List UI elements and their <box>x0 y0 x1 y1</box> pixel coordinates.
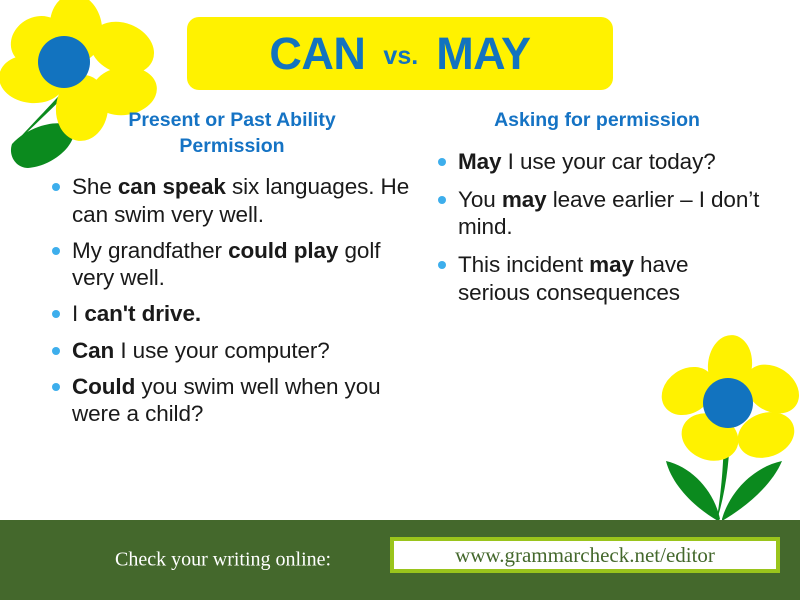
bullet-dot-icon <box>52 383 60 391</box>
list-item: My grandfather could play golf very well… <box>46 237 418 291</box>
column-can: Present or Past Ability Permission She c… <box>46 108 418 436</box>
bullet-dot-icon <box>438 158 446 166</box>
list-item: Could you swim well when you were a chil… <box>46 373 418 427</box>
emphasis-text: can speak <box>118 174 226 199</box>
column-heading-may: Asking for permission <box>432 108 762 134</box>
title-word-may: MAY <box>436 31 530 76</box>
title-banner: CAN vs. MAY <box>187 17 613 90</box>
column-heading-can: Present or Past Ability Permission <box>46 108 418 159</box>
plain-text: I use your car today? <box>501 149 715 174</box>
emphasis-text: Could <box>72 374 135 399</box>
bullet-dot-icon <box>52 183 60 191</box>
list-item: You may leave earlier – I don’t mind. <box>432 186 762 240</box>
list-item: May I use your car today? <box>432 148 762 175</box>
emphasis-text: may <box>589 252 634 277</box>
plain-text: She <box>72 174 118 199</box>
title-word-vs: vs. <box>383 44 418 69</box>
plain-text: I use your computer? <box>114 338 330 363</box>
heading-line: Asking for permission <box>436 108 758 134</box>
plain-text: My grandfather <box>72 238 228 263</box>
flower-icon <box>648 335 800 530</box>
emphasis-text: Can <box>72 338 114 363</box>
slide-canvas: CAN vs. MAY Present or Past Ability Perm… <box>0 0 800 600</box>
footer-url-text[interactable]: www.grammarcheck.net/editor <box>455 543 715 568</box>
list-item: This incident may have serious consequen… <box>432 251 762 305</box>
plain-text: This incident <box>458 252 589 277</box>
flower-leaf <box>722 461 782 521</box>
plain-text: I <box>72 301 84 326</box>
footer-caption: Check your writing online: <box>115 549 331 572</box>
column-may: Asking for permission May I use your car… <box>432 108 762 317</box>
list-item: Can I use your computer? <box>46 337 418 364</box>
flower-center <box>703 378 753 428</box>
bullet-dot-icon <box>52 247 60 255</box>
plain-text: You <box>458 187 502 212</box>
emphasis-text: could play <box>228 238 338 263</box>
emphasis-text: can't drive. <box>84 301 201 326</box>
bullet-list-can: She can speak six languages. He can swim… <box>46 173 418 427</box>
heading-line: Permission <box>58 134 406 160</box>
emphasis-text: May <box>458 149 501 174</box>
bullet-dot-icon <box>52 347 60 355</box>
footer-url-box[interactable]: www.grammarcheck.net/editor <box>390 537 780 573</box>
bullet-dot-icon <box>438 261 446 269</box>
bullet-list-may: May I use your car today? You may leave … <box>432 148 762 306</box>
bullet-dot-icon <box>52 310 60 318</box>
bullet-dot-icon <box>438 196 446 204</box>
flower-center <box>38 36 90 88</box>
flower-leaf <box>666 461 720 521</box>
emphasis-text: may <box>502 187 547 212</box>
list-item: She can speak six languages. He can swim… <box>46 173 418 227</box>
title-word-can: CAN <box>269 31 365 76</box>
heading-line: Present or Past Ability <box>58 108 406 134</box>
list-item: I can't drive. <box>46 300 418 327</box>
